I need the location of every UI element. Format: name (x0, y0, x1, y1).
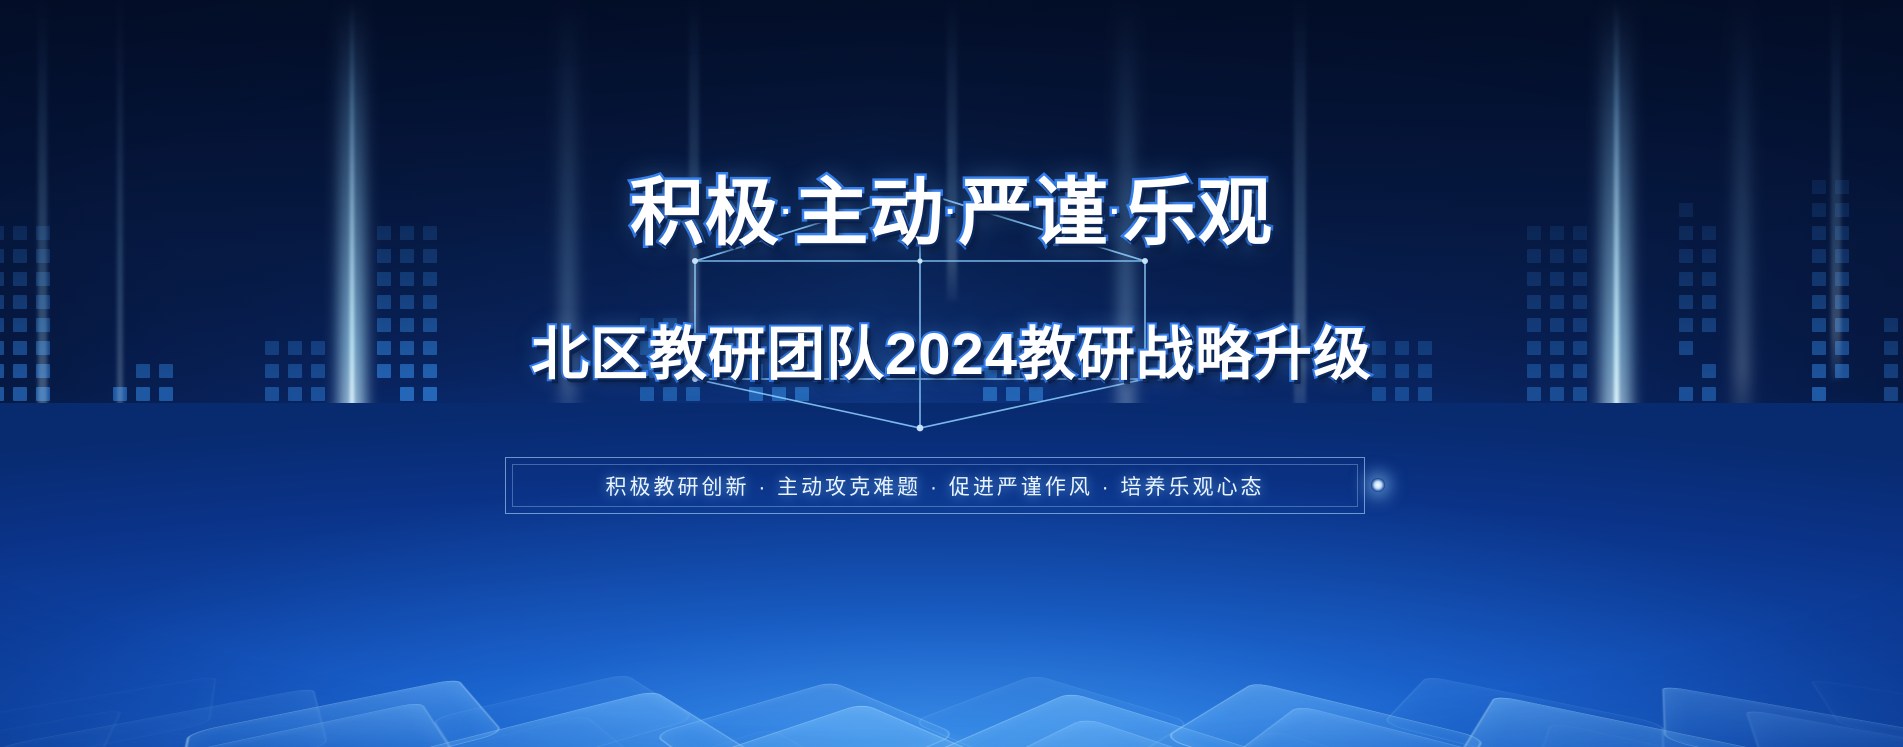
title-word-4: 乐观 (1123, 171, 1273, 254)
title-separator-2: · (945, 193, 957, 231)
title-separator-1: · (781, 193, 793, 231)
banner-tagline: 积极教研创新 · 主动攻克难题 · 促进严谨作风 · 培养乐观心态 (505, 457, 1365, 514)
banner-title-main: 积极·主动·严谨·乐观 (0, 176, 1903, 250)
banner-canvas: 积极·主动·严谨·乐观 北区教研团队2024教研战略升级 积极教研创新 · 主动… (0, 0, 1903, 747)
glow-dot-icon (1371, 478, 1385, 492)
title-separator-3: · (1110, 193, 1122, 231)
banner-title-sub: 北区教研团队2024教研战略升级 (0, 326, 1903, 384)
title-word-2: 主动 (794, 171, 944, 254)
title-word-3: 严谨 (959, 171, 1109, 254)
title-word-1: 积极 (630, 171, 780, 254)
banner-content: 积极·主动·严谨·乐观 北区教研团队2024教研战略升级 积极教研创新 · 主动… (0, 0, 1903, 747)
